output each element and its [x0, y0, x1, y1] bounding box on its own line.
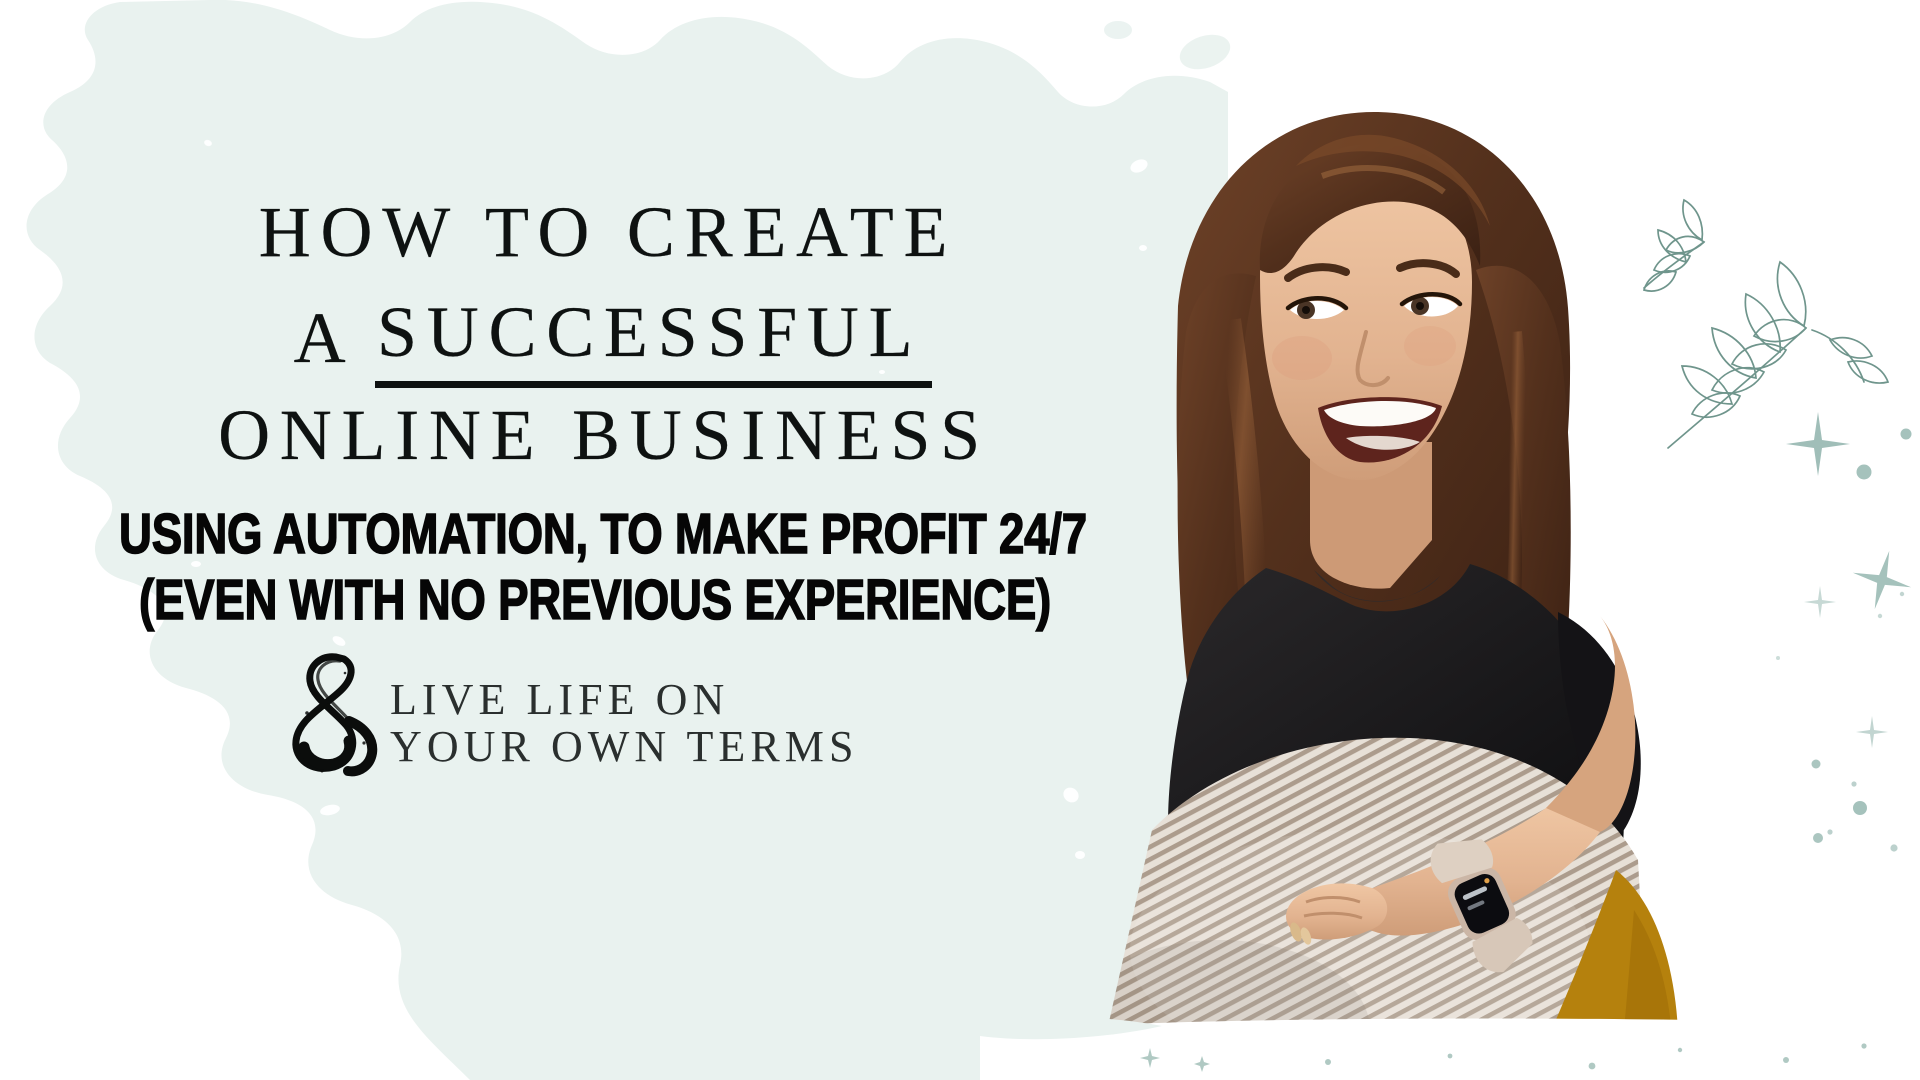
- headline-block: HOW TO CREATE A SUCCESSFUL ONLINE BUSINE…: [0, 196, 1190, 629]
- emphasis-underline-bar: [375, 381, 932, 388]
- subtitle-line-1: USING AUTOMATION, TO MAKE PROFIT 24/7: [119, 507, 1071, 563]
- ampersand-brush-icon: [276, 647, 384, 777]
- tagline-text: LIVE LIFE ON YOUR OWN TERMS: [390, 677, 859, 770]
- sparkle-star-icon: [1760, 400, 1920, 940]
- headline-line-3: ONLINE BUSINESS: [18, 399, 1190, 471]
- tagline-block: LIVE LIFE ON YOUR OWN TERMS: [276, 655, 859, 777]
- bottom-white-sweep: [980, 990, 1920, 1080]
- tagline-line-2: YOUR OWN TERMS: [390, 724, 859, 771]
- headline-line-1: HOW TO CREATE: [26, 196, 1190, 268]
- promo-banner-canvas: HOW TO CREATE A SUCCESSFUL ONLINE BUSINE…: [0, 0, 1920, 1080]
- subtitle-line-2: (EVEN WITH NO PREVIOUS EXPERIENCE): [119, 573, 1071, 629]
- tagline-line-1: LIVE LIFE ON: [390, 677, 859, 724]
- headline-line-2: A SUCCESSFUL: [26, 291, 1190, 374]
- headline-emphasis-word: SUCCESSFUL: [377, 291, 922, 374]
- headline-emphasis-text: SUCCESSFUL: [377, 292, 922, 372]
- headline-line-2-prefix: A: [294, 302, 356, 374]
